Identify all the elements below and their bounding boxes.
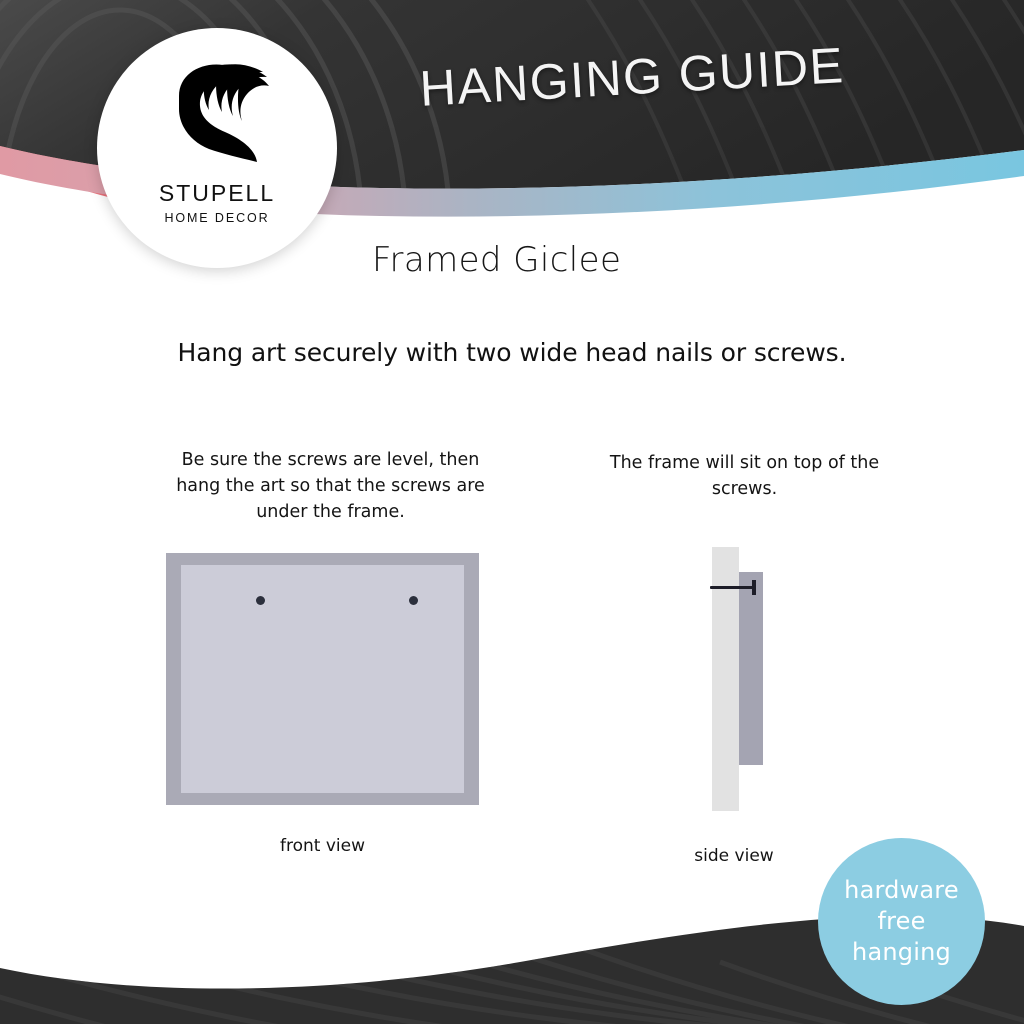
page-title: HANGING GUIDE [371, 34, 893, 121]
front-view-diagram [166, 553, 479, 805]
screw-dot-right-icon [409, 596, 418, 605]
product-type-title: Framed Giclee [372, 240, 621, 280]
side-view-label: side view [664, 846, 804, 866]
main-instruction-text: Hang art securely with two wide head nai… [0, 338, 1024, 367]
side-view-diagram [700, 540, 820, 825]
badge-line-1: hardware [844, 875, 959, 906]
side-view-frame [739, 572, 763, 765]
hardware-free-hanging-badge: hardware free hanging [818, 838, 985, 1005]
screw-dot-left-icon [256, 596, 265, 605]
nail-side-icon [710, 586, 756, 589]
hanging-guide-page: STUPELL HOME DECOR HANGING GUIDE Framed … [0, 0, 1024, 1024]
brand-tagline: HOME DECOR [164, 211, 269, 225]
brand-name: STUPELL [159, 180, 275, 207]
badge-line-3: hanging [852, 937, 951, 968]
badge-line-2: free [877, 906, 925, 937]
nail-head-icon [752, 580, 756, 595]
side-view-caption: The frame will sit on top of the screws. [592, 450, 897, 502]
brand-logo-badge: STUPELL HOME DECOR [97, 28, 337, 268]
front-view-caption: Be sure the screws are level, then hang … [163, 447, 498, 525]
stupell-swoosh-logo-icon [163, 56, 271, 174]
front-view-label: front view [166, 836, 479, 856]
front-view-artwork-area [181, 565, 464, 793]
